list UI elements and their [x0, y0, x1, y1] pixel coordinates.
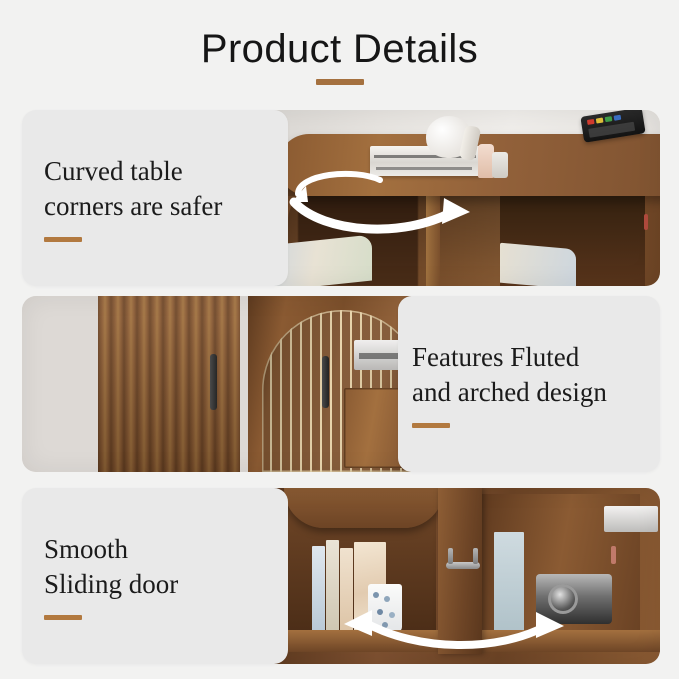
- page-header: Product Details: [0, 28, 679, 85]
- door-handle-left[interactable]: [210, 354, 217, 410]
- feature-text-card-curved-corners: Curved table corners are safer: [22, 110, 288, 286]
- feature-text-card-sliding-door: Smooth Sliding door: [22, 488, 288, 664]
- feature-row-curved-corners: Curved table corners are safer: [22, 110, 660, 286]
- feature-row-sliding-door: Smooth Sliding door: [22, 488, 660, 664]
- title-accent-bar: [316, 79, 364, 85]
- feature-accent-bar: [44, 615, 82, 620]
- fluted-arched-door-photo: [22, 296, 422, 472]
- feature-row-fluted-arched: Features Fluted and arched design: [22, 296, 660, 472]
- curved-interior-top: [284, 488, 444, 528]
- feature-accent-bar: [44, 237, 82, 242]
- magazines-right: [500, 243, 576, 286]
- feature-label: Smooth Sliding door: [44, 532, 288, 601]
- sliding-door-handle[interactable]: [446, 562, 480, 569]
- sliding-door-interior-photo: [250, 488, 660, 664]
- door-handle-right[interactable]: [322, 356, 329, 408]
- white-printer: [604, 506, 658, 532]
- curved-arrow-right-annotation: [284, 168, 474, 234]
- label-tab: [611, 546, 616, 564]
- feature-text-card-fluted-arched: Features Fluted and arched design: [398, 296, 660, 472]
- grey-ceramic-object: [492, 152, 508, 178]
- cabinet-curved-corner-top-photo: [250, 110, 660, 286]
- double-arrow-horizontal-annotation: [338, 608, 568, 664]
- fluted-slat-door: [98, 296, 240, 472]
- feature-accent-bar: [412, 423, 450, 428]
- feature-label: Features Fluted and arched design: [412, 340, 650, 409]
- red-label-tab: [644, 214, 648, 230]
- feature-label: Curved table corners are safer: [44, 154, 288, 223]
- page-title: Product Details: [0, 28, 679, 70]
